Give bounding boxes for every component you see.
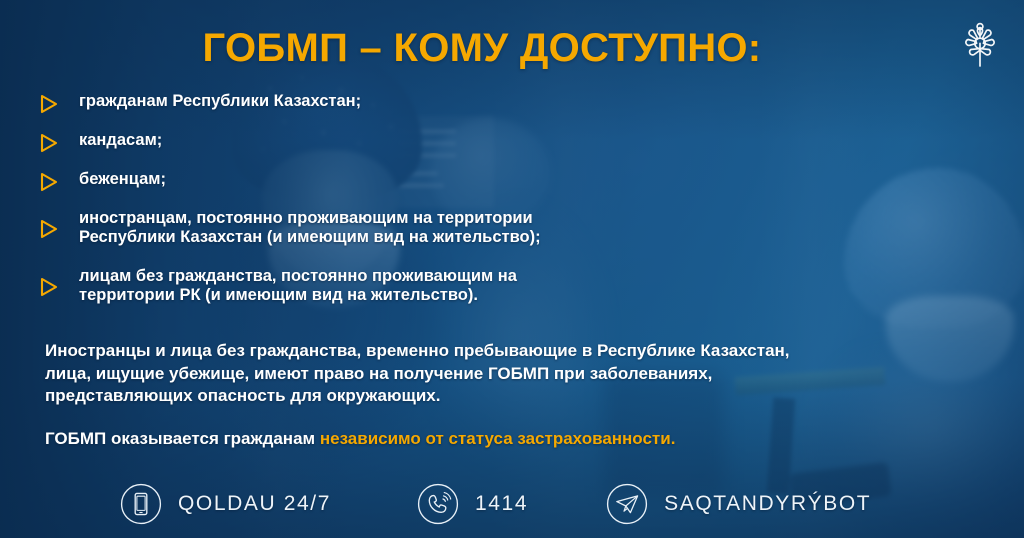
paragraph-highlight: независимо от статуса застрахованности. <box>320 429 676 448</box>
list-item-label: гражданам Республики Казахстан; <box>79 92 361 111</box>
telegram-paper-plane-icon <box>606 483 648 525</box>
slide-content: ГОБМП – КОМУ ДОСТУПНО: гражданам Республ… <box>0 0 1024 538</box>
triangle-right-icon <box>38 218 60 240</box>
list-item-line-2: Республики Казахстан (и имеющим вид на ж… <box>79 228 541 246</box>
list-item: лицам без гражданства, постоянно прожива… <box>38 267 738 305</box>
list-item-label: лицам без гражданства, постоянно прожива… <box>79 267 517 305</box>
paragraph-insurance-status: ГОБМП оказывается гражданам независимо о… <box>45 428 925 451</box>
slide-title: ГОБМП – КОМУ ДОСТУПНО: <box>0 26 1024 71</box>
list-item-label: кандасам; <box>79 131 162 150</box>
footer-contacts: QOLDAU 24/7 1414 <box>120 483 871 525</box>
footer-item-label: SAQTANDYRÝBOT <box>664 492 871 516</box>
footer-item-label: 1414 <box>475 492 528 516</box>
triangle-right-icon <box>38 276 60 298</box>
paragraph-temporary-residents: Иностранцы и лица без гражданства, време… <box>45 340 925 408</box>
list-item-line-2: территории РК (и имеющим вид на жительст… <box>79 286 478 304</box>
paragraph-prefix: ГОБМП оказывается гражданам <box>45 429 320 448</box>
list-item-label: иностранцам, постоянно проживающим на те… <box>79 209 541 247</box>
footer-item-telegram-bot[interactable]: SAQTANDYRÝBOT <box>606 483 871 525</box>
list-item: беженцам; <box>38 170 738 193</box>
footer-item-label: QOLDAU 24/7 <box>178 492 331 516</box>
list-item-label: беженцам; <box>79 170 166 189</box>
list-item-line-1: лицам без гражданства, постоянно прожива… <box>79 267 517 285</box>
presentation-slide: ГОБМП – КОМУ ДОСТУПНО: гражданам Республ… <box>0 0 1024 538</box>
footer-item-qoldau[interactable]: QOLDAU 24/7 <box>120 483 331 525</box>
triangle-right-icon <box>38 132 60 154</box>
eligibility-bullet-list: гражданам Республики Казахстан; кандасам… <box>38 92 738 305</box>
paragraph-line-3: представляющих опасность для окружающих. <box>45 386 440 405</box>
list-item-line-1: иностранцам, постоянно проживающим на те… <box>79 209 533 227</box>
paragraph-line-2: лица, ищущие убежище, имеют право на пол… <box>45 364 712 383</box>
phone-call-icon <box>417 483 459 525</box>
list-item: кандасам; <box>38 131 738 154</box>
list-item: иностранцам, постоянно проживающим на те… <box>38 209 738 247</box>
smartphone-icon <box>120 483 162 525</box>
triangle-right-icon <box>38 171 60 193</box>
footer-item-hotline[interactable]: 1414 <box>417 483 528 525</box>
paragraph-line-1: Иностранцы и лица без гражданства, време… <box>45 341 790 360</box>
triangle-right-icon <box>38 93 60 115</box>
list-item: гражданам Республики Казахстан; <box>38 92 738 115</box>
